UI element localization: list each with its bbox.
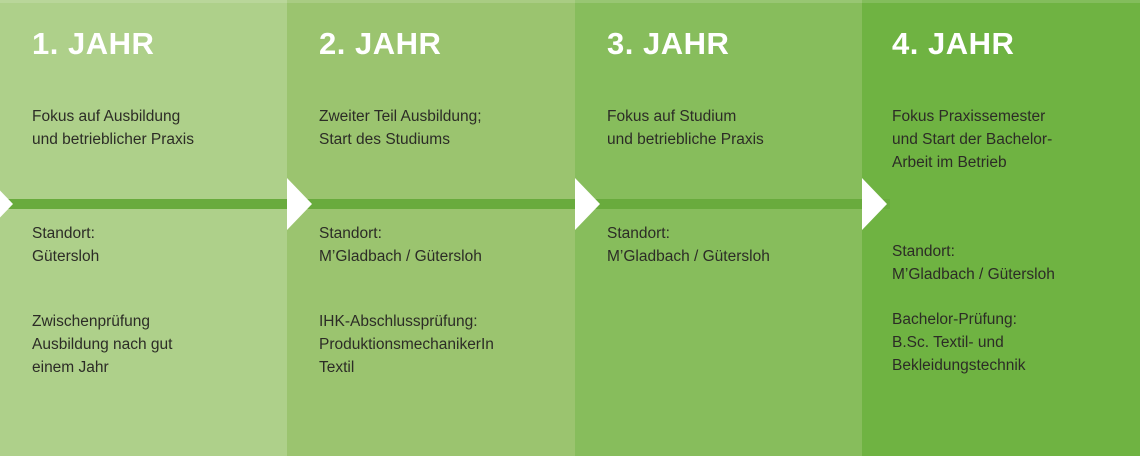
text-line: Fokus auf Studium bbox=[607, 105, 852, 128]
text-line: Standort: bbox=[607, 222, 852, 245]
text-line: IHK-Abschlussprüfung: bbox=[319, 310, 565, 333]
year-column-2: 2. JAHR Zweiter Teil Ausbildung; Start d… bbox=[287, 0, 575, 456]
year-column-1: 1. JAHR Fokus auf Ausbildung und betrieb… bbox=[0, 0, 287, 456]
text-line: Standort: bbox=[319, 222, 565, 245]
text-line: Textil bbox=[319, 356, 565, 379]
text-line: und betriebliche Praxis bbox=[607, 128, 852, 151]
text-line: Ausbildung nach gut bbox=[32, 333, 277, 356]
timeline-infographic: 1. JAHR Fokus auf Ausbildung und betrieb… bbox=[0, 0, 1140, 456]
year-4-location-text: Standort: M’Gladbach / Gütersloh bbox=[892, 240, 1130, 286]
arrow-right-icon bbox=[0, 178, 13, 230]
year-2-location-text: Standort: M’Gladbach / Gütersloh bbox=[319, 222, 565, 268]
year-4-focus-text: Fokus Praxissemester und Start der Bache… bbox=[892, 105, 1130, 174]
year-column-3: 3. JAHR Fokus auf Studium und betrieblic… bbox=[575, 0, 862, 456]
arrow-right-icon bbox=[862, 178, 887, 230]
year-column-4: 4. JAHR Fokus Praxissemester und Start d… bbox=[862, 0, 1140, 456]
text-line: Zweiter Teil Ausbildung; bbox=[319, 105, 565, 128]
year-title-2: 2. JAHR bbox=[319, 26, 441, 62]
arrow-right-icon bbox=[575, 178, 600, 230]
text-line: M’Gladbach / Gütersloh bbox=[319, 245, 565, 268]
year-title-4: 4. JAHR bbox=[892, 26, 1014, 62]
year-1-exam-text: Zwischenprüfung Ausbildung nach gut eine… bbox=[32, 310, 277, 379]
arrow-right-icon bbox=[287, 178, 312, 230]
year-title-3: 3. JAHR bbox=[607, 26, 729, 62]
text-line: einem Jahr bbox=[32, 356, 277, 379]
year-3-focus-text: Fokus auf Studium und betriebliche Praxi… bbox=[607, 105, 852, 151]
text-line: Gütersloh bbox=[32, 245, 277, 268]
timeline-connector-bar bbox=[0, 199, 890, 209]
text-line: Standort: bbox=[32, 222, 277, 245]
text-line: Fokus Praxissemester bbox=[892, 105, 1130, 128]
text-line: ProduktionsmechanikerIn bbox=[319, 333, 565, 356]
year-3-location-text: Standort: M’Gladbach / Gütersloh bbox=[607, 222, 852, 268]
text-line: Start des Studiums bbox=[319, 128, 565, 151]
year-2-focus-text: Zweiter Teil Ausbildung; Start des Studi… bbox=[319, 105, 565, 151]
text-line: Fokus auf Ausbildung bbox=[32, 105, 277, 128]
text-line: Arbeit im Betrieb bbox=[892, 151, 1130, 174]
text-line: und Start der Bachelor- bbox=[892, 128, 1130, 151]
year-4-exam-text: Bachelor-Prüfung: B.Sc. Textil- und Bekl… bbox=[892, 308, 1130, 377]
text-line: B.Sc. Textil- und bbox=[892, 331, 1130, 354]
text-line: und betrieblicher Praxis bbox=[32, 128, 277, 151]
year-title-1: 1. JAHR bbox=[32, 26, 154, 62]
text-line: Bachelor-Prüfung: bbox=[892, 308, 1130, 331]
text-line: Zwischenprüfung bbox=[32, 310, 277, 333]
year-columns: 1. JAHR Fokus auf Ausbildung und betrieb… bbox=[0, 0, 1140, 456]
text-line: Standort: bbox=[892, 240, 1130, 263]
text-line: Bekleidungstechnik bbox=[892, 354, 1130, 377]
text-line: M’Gladbach / Gütersloh bbox=[892, 263, 1130, 286]
year-1-focus-text: Fokus auf Ausbildung und betrieblicher P… bbox=[32, 105, 277, 151]
year-1-location-text: Standort: Gütersloh bbox=[32, 222, 277, 268]
year-2-exam-text: IHK-Abschlussprüfung: Produktionsmechani… bbox=[319, 310, 565, 379]
text-line: M’Gladbach / Gütersloh bbox=[607, 245, 852, 268]
